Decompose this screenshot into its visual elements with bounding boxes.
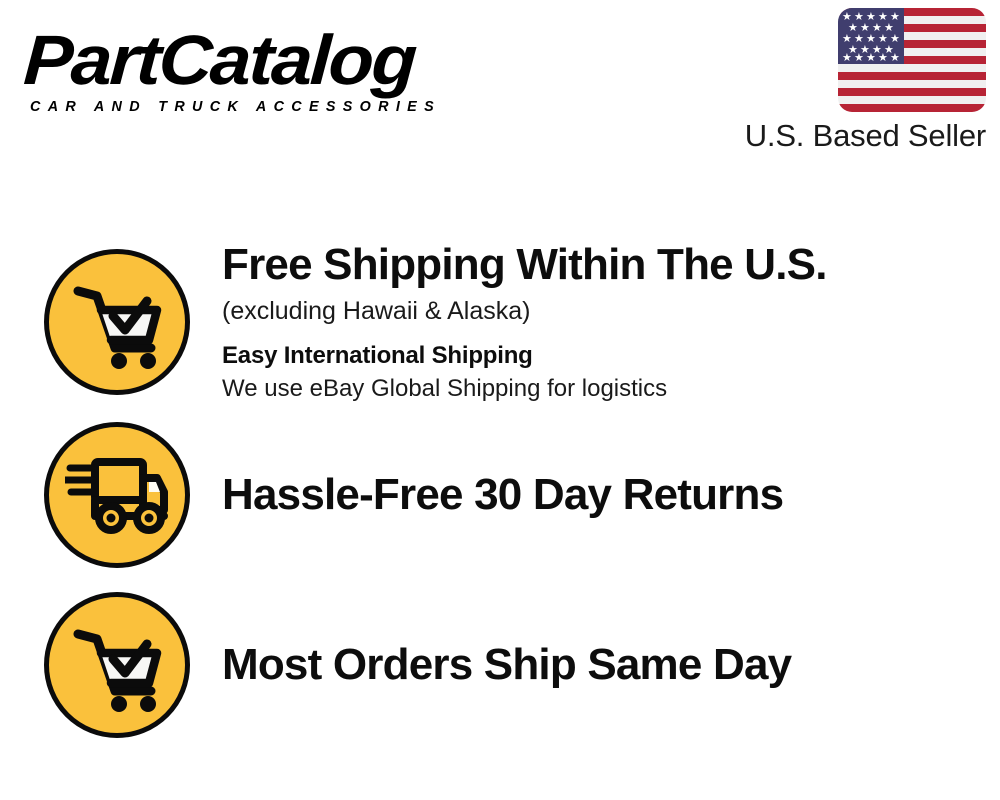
us-flag-icon: ★ ★ ★ ★ ★ ★ ★ ★ ★ ★ ★ ★ ★ ★ ★ ★ ★ ★ ★ ★ … [838, 8, 986, 112]
flag-star: ★ [878, 52, 888, 63]
feature-row: Most Orders Ship Same Day [0, 585, 1000, 745]
feature-list: Free Shipping Within The U.S. (excluding… [0, 180, 1000, 800]
brand-logo: PartCatalog CAR AND TRUCK ACCESSORIES [24, 24, 494, 116]
shopping-cart-check-icon [44, 249, 190, 395]
feature-note-line: We use eBay Global Shipping for logistic… [222, 373, 980, 405]
seller-badge: ★ ★ ★ ★ ★ ★ ★ ★ ★ ★ ★ ★ ★ ★ ★ ★ ★ ★ ★ ★ … [716, 8, 986, 155]
feature-text: Free Shipping Within The U.S. (excluding… [222, 240, 1000, 405]
flag-star: ★ [842, 52, 852, 63]
feature-title: Free Shipping Within The U.S. [222, 240, 980, 290]
seller-badge-label: U.S. Based Seller [716, 117, 986, 155]
brand-wordmark: PartCatalog [22, 24, 524, 96]
feature-subtitle: (excluding Hawaii & Alaska) [222, 294, 980, 328]
flag-star: ★ [866, 52, 876, 63]
feature-row: Free Shipping Within The U.S. (excluding… [0, 242, 1000, 402]
feature-title: Hassle-Free 30 Day Returns [222, 470, 980, 520]
feature-text: Hassle-Free 30 Day Returns [222, 470, 1000, 520]
flag-stripe [838, 72, 986, 80]
flag-stripe [838, 104, 986, 112]
flag-stripe [838, 88, 986, 96]
delivery-truck-icon [44, 422, 190, 568]
brand-tagline: CAR AND TRUCK ACCESSORIES [30, 98, 489, 116]
feature-title: Most Orders Ship Same Day [222, 640, 980, 690]
flag-star: ★ [854, 52, 864, 63]
feature-text: Most Orders Ship Same Day [222, 640, 1000, 690]
banner-header: PartCatalog CAR AND TRUCK ACCESSORIES ★ … [0, 0, 1000, 180]
shopping-cart-check-icon [44, 592, 190, 738]
feature-strong-line: Easy International Shipping [222, 340, 980, 372]
flag-star: ★ [890, 52, 900, 63]
feature-row: Hassle-Free 30 Day Returns [0, 415, 1000, 575]
